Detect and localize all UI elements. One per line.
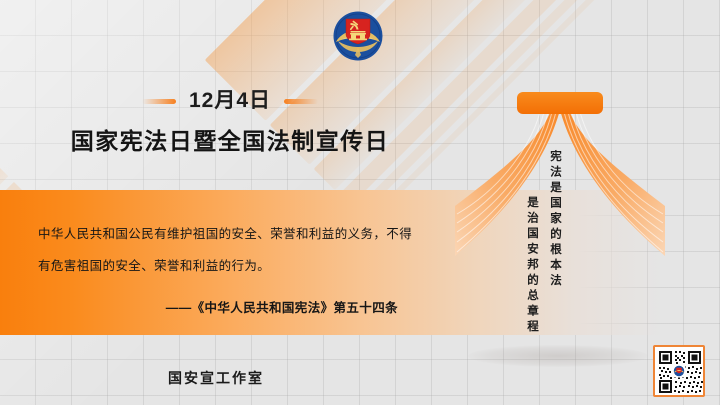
qr-center-emblem-icon bbox=[673, 365, 686, 378]
date-dash-right-icon bbox=[284, 99, 318, 104]
slogan-right: 宪法是国家的根本法 bbox=[547, 150, 563, 290]
book-shadow bbox=[468, 345, 648, 367]
quote-citation: ——《中华人民共和国宪法》第五十四条 bbox=[38, 297, 398, 316]
constitution-day-poster: 12月4日 国家宪法日暨全国法制宣传日 中华人民共和国公民有维护祖国的安全、荣誉… bbox=[0, 0, 720, 405]
qr-code-icon[interactable] bbox=[653, 345, 705, 397]
page-title: 国家宪法日暨全国法制宣传日 bbox=[0, 122, 460, 156]
date-text: 12月4日 bbox=[189, 88, 271, 114]
headline-block: 12月4日 国家宪法日暨全国法制宣传日 bbox=[0, 88, 460, 156]
national-emblem-icon bbox=[332, 10, 384, 62]
date-dash-left-icon bbox=[142, 99, 176, 104]
date-line: 12月4日 bbox=[0, 88, 460, 114]
studio-signature: 国安宣工作室 bbox=[168, 368, 264, 388]
quote-line-2: 有危害祖国的安全、荣誉和利益的行为。 bbox=[38, 250, 428, 282]
constitution-quote: 中华人民共和国公民有维护祖国的安全、荣誉和利益的义务，不得 有危害祖国的安全、荣… bbox=[38, 218, 428, 282]
slogan-left: 是治国安邦的总章程 bbox=[524, 196, 540, 336]
quote-line-1: 中华人民共和国公民有维护祖国的安全、荣誉和利益的义务，不得 bbox=[38, 218, 428, 250]
